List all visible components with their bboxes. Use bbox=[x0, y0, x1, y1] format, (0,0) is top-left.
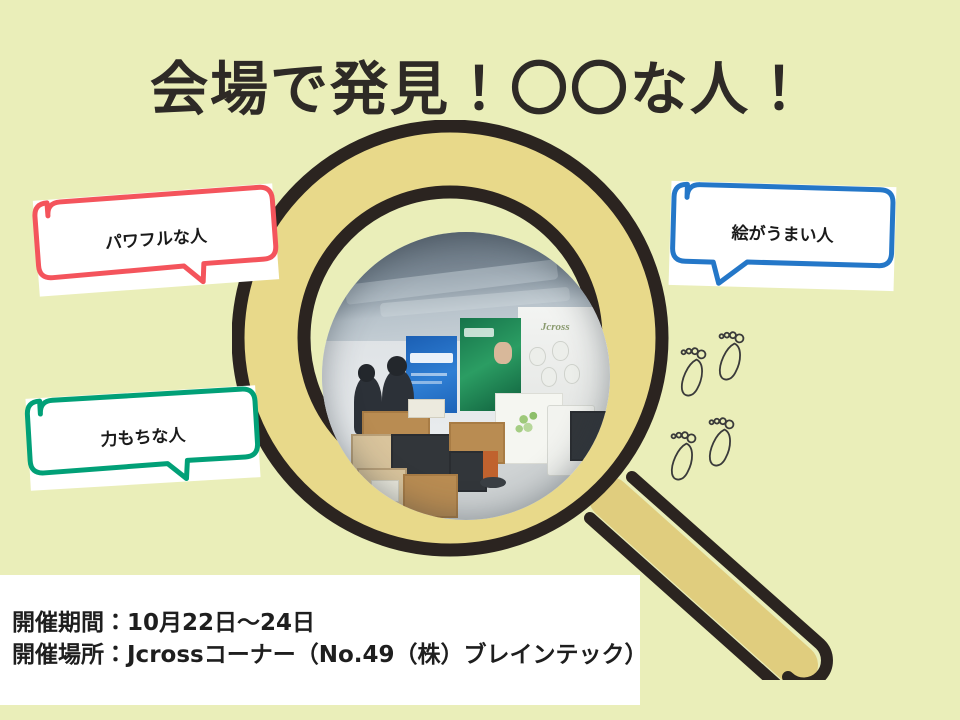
poster-canvas: 会場で発見！〇〇な人！ Jcross bbox=[0, 0, 960, 720]
speech-bubble-draw[interactable]: 絵がうまい人 bbox=[669, 181, 897, 291]
footprint bbox=[664, 430, 696, 481]
footprint bbox=[702, 416, 734, 467]
footprint bbox=[712, 330, 744, 381]
speech-bubble-strong[interactable]: 力もちな人 bbox=[25, 385, 260, 490]
magnifier-handle-edge-right bbox=[632, 477, 827, 680]
event-info-panel: 開催期間：10月22日〜24日 開催場所：Jcrossコーナー（No.49（株）… bbox=[0, 575, 640, 705]
event-place-line: 開催場所：Jcrossコーナー（No.49（株）ブレインテック） bbox=[12, 640, 640, 672]
lens-photo: Jcross bbox=[322, 232, 610, 520]
speech-bubble-powerful[interactable]: パワフルな人 bbox=[33, 183, 279, 296]
event-period-line: 開催期間：10月22日〜24日 bbox=[12, 608, 640, 640]
photo-vignette bbox=[322, 232, 610, 520]
footprint bbox=[674, 346, 706, 397]
booth-photo-scene: Jcross bbox=[322, 232, 610, 520]
page-title: 会場で発見！〇〇な人！ bbox=[0, 42, 960, 126]
bubble-label-draw: 絵がうまい人 bbox=[731, 223, 834, 246]
footprints-graphic bbox=[660, 322, 780, 492]
